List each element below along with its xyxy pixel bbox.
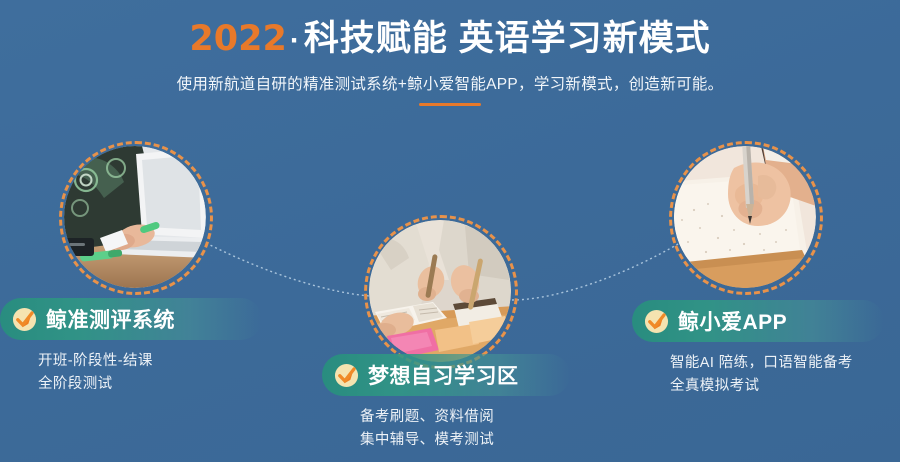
card-desc-line-2: 集中辅导、模考测试	[360, 429, 570, 452]
title-year: 2022	[189, 19, 286, 59]
card-title-text: 鲸准测评系统	[46, 304, 175, 334]
card-desc-line-1: 开班-阶段性-结课	[38, 350, 262, 373]
subtitle-underline	[419, 103, 481, 106]
card-description: 开班-阶段性-结课 全阶段测试	[0, 350, 262, 396]
card-description: 备考刷题、资料借阅 集中辅导、模考测试	[322, 406, 570, 452]
feature-card-app: 鲸小爱APP 智能AI 陪练，口语智能备考 全真模拟考试	[632, 300, 884, 398]
card-title-text: 梦想自习学习区	[368, 360, 519, 390]
card-title-band: 鲸准测评系统	[0, 298, 262, 340]
card-desc-line-1: 备考刷题、资料借阅	[360, 406, 570, 429]
dashed-ring	[59, 141, 213, 295]
photo-circle-writing	[674, 146, 816, 288]
banner-header: 2022·科技赋能 英语学习新模式 使用新航道自研的精准测试系统+鲸小爱智能AP…	[0, 0, 900, 106]
photo-circle-study-group	[369, 220, 511, 362]
dashed-ring	[364, 215, 518, 369]
card-description: 智能AI 陪练，口语智能备考 全真模拟考试	[632, 352, 884, 398]
feature-card-assessment: 鲸准测评系统 开班-阶段性-结课 全阶段测试	[0, 298, 262, 396]
orange-check-badge-icon	[644, 309, 669, 334]
promo-banner: 2022·科技赋能 英语学习新模式 使用新航道自研的精准测试系统+鲸小爱智能AP…	[0, 0, 900, 462]
orange-check-badge-icon	[334, 363, 359, 388]
card-desc-line-2: 全真模拟考试	[670, 375, 884, 398]
card-title-band: 鲸小爱APP	[632, 300, 884, 342]
feature-card-study-zone: 梦想自习学习区 备考刷题、资料借阅 集中辅导、模考测试	[322, 354, 570, 452]
page-subtitle: 使用新航道自研的精准测试系统+鲸小爱智能APP，学习新模式，创造新可能。	[0, 74, 900, 96]
card-desc-line-1: 智能AI 陪练，口语智能备考	[670, 352, 884, 375]
card-desc-line-2: 全阶段测试	[38, 373, 262, 396]
title-separator: ·	[287, 24, 304, 57]
card-title-text: 鲸小爱APP	[678, 306, 787, 336]
title-text: 科技赋能 英语学习新模式	[304, 19, 711, 58]
photo-circle-laptop	[64, 146, 206, 288]
card-title-band: 梦想自习学习区	[322, 354, 570, 396]
orange-check-badge-icon	[12, 307, 37, 332]
page-title: 2022·科技赋能 英语学习新模式	[0, 16, 900, 64]
dashed-ring	[669, 141, 823, 295]
